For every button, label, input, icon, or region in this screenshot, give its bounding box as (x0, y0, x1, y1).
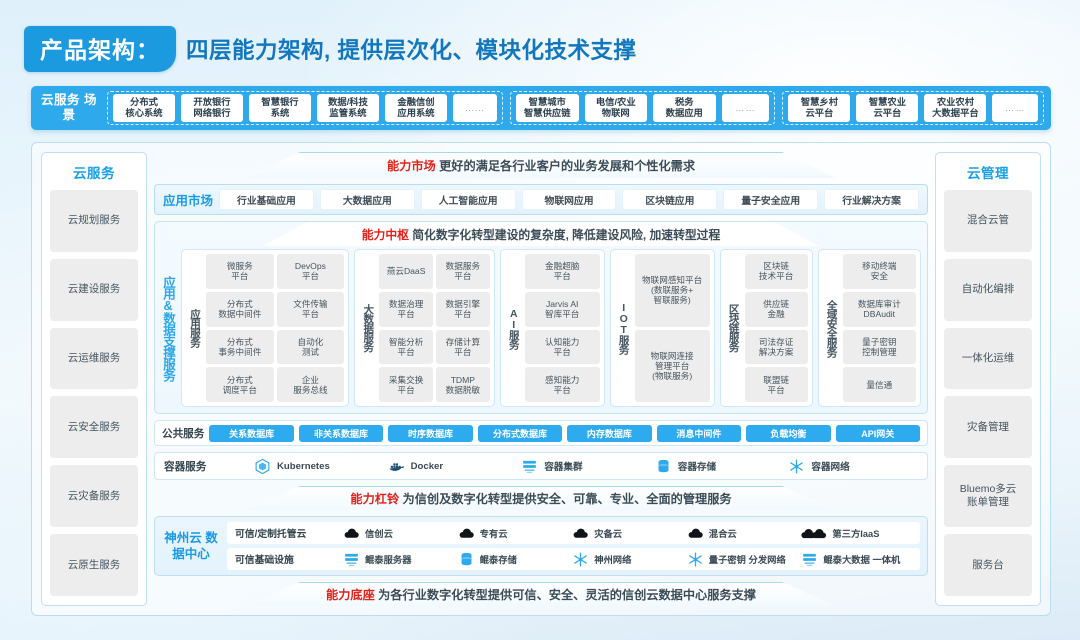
cloud-service-item[interactable]: 云灾备服务 (50, 465, 138, 527)
application-market-label: 应用市场 (163, 190, 213, 209)
left-sidebar-title: 云服务 (73, 162, 115, 182)
data-center-item[interactable]: 神州网络 (572, 551, 683, 568)
data-center-item-label: 鲲泰大数据 一体机 (823, 552, 900, 566)
capability-hub-body: 应用&数据支撑服务 应用服务微服务 平台DevOps 平台分布式 数据中间件文件… (155, 246, 927, 413)
ribbon-barbell-desc: 为信创及数字化转型提供安全、可靠、专业、全面的管理服务 (403, 492, 732, 506)
server-stack-icon (801, 551, 818, 568)
application-market-chip[interactable]: 大数据应用 (320, 189, 415, 210)
data-center-item-label: 第三方IaaS (832, 526, 879, 540)
data-center-item[interactable]: 灾备云 (572, 525, 683, 542)
data-center-label: 神州云 数据中心 (162, 530, 220, 562)
scenario-chip[interactable]: 金融信创 应用系统 (385, 94, 447, 122)
right-sidebar-cloud-management: 云管理 混合云管自动化编排一体化运维灾备管理Bluemo多云 账单管理服务台 (935, 152, 1041, 606)
ribbon-market-desc: 更好的满足各行业客户的业务发展和个性化需求 (439, 159, 695, 173)
domain-card: 区块链服务区块链 技术平台供应链 金融司法存证 解决方案联盟链 平台 (720, 249, 813, 407)
capability-hub-block: 能力中枢 简化数字化转型建设的复杂度, 降低建设风险, 加速转型过程 应用&数据… (154, 221, 928, 414)
application-market-chip[interactable]: 量子安全应用 (723, 189, 818, 210)
capability-cell[interactable]: 移动终端 安全 (843, 254, 916, 289)
domain-card-title: IOT服务 (615, 254, 632, 402)
right-sidebar-title: 云管理 (967, 162, 1009, 182)
capability-cell[interactable]: 数据库审计 DBAudit (843, 292, 916, 327)
capability-cell[interactable]: 自动化 测试 (277, 330, 345, 365)
cloud-icon (572, 525, 589, 542)
capability-cell[interactable]: 量信通 (843, 367, 916, 402)
public-service-chip[interactable]: 非关系数据库 (299, 425, 383, 442)
container-service-label: 容器集群 (544, 459, 582, 473)
network-icon (572, 551, 589, 568)
ribbon-capability-market: 能力市场 更好的满足各行业客户的业务发展和个性化需求 (154, 152, 928, 178)
title-badge: 产品架构： (24, 26, 176, 72)
capability-cell[interactable]: 感知能力 平台 (525, 367, 600, 402)
scenario-chip[interactable]: 开放银行 网络银行 (181, 94, 243, 122)
data-center-item[interactable]: 混合云 (687, 525, 798, 542)
domain-card-grid: 物联网感知平台 (数联服务+ 智联服务)物联网连接 管理平台 (物联服务) (635, 254, 710, 402)
public-service-chip[interactable]: 内存数据库 (567, 425, 651, 442)
ribbon-hub-key: 能力中枢 (362, 228, 409, 242)
architecture-frame: 云服务 云规划服务云建设服务云运维服务云安全服务云灾备服务云原生服务 能力市场 … (31, 142, 1051, 616)
cloud-management-item[interactable]: 灾备管理 (944, 396, 1032, 458)
scenario-chip[interactable]: 智慧乡村 云平台 (788, 94, 850, 122)
container-service-label: 容器存储 (678, 459, 716, 473)
page-title: 产品架构： 四层能力架构, 提供层次化、模块化技术支撑 (24, 26, 637, 72)
cloud-icon (343, 525, 360, 542)
application-market-chip[interactable]: 区块链应用 (622, 189, 717, 210)
capability-cell[interactable]: 分布式 数据中间件 (206, 292, 274, 327)
public-service-chip[interactable]: 消息中间件 (657, 425, 741, 442)
capability-cell[interactable]: 企业 服务总线 (277, 367, 345, 402)
data-center-row: 可信/定制托管云信创云专有云灾备云混合云第三方IaaS (227, 522, 920, 544)
container-service-label: Docker (411, 461, 444, 472)
container-service-item[interactable]: Kubernetes (254, 458, 384, 475)
domain-card-grid: 燕云DaaS数据服务 平台数据治理 平台数据引擎 平台智能分析 平台存储计算 平… (379, 254, 490, 402)
data-center-item[interactable]: 鲲泰大数据 一体机 (801, 551, 912, 568)
capability-cell[interactable]: 量子密钥 控制管理 (843, 330, 916, 365)
data-center-item-label: 信创云 (365, 526, 393, 540)
database-icon (655, 458, 672, 475)
cloud-management-item[interactable]: Bluemo多云 账单管理 (944, 465, 1032, 527)
domain-card-title: 区块链服务 (725, 254, 742, 402)
domain-card-grid: 微服务 平台DevOps 平台分布式 数据中间件文件传输 平台分布式 事务中间件… (206, 254, 344, 402)
capability-cell[interactable]: 金融超脑 平台 (525, 254, 600, 289)
ribbon-capability-barbell: 能力杠铃 为信创及数字化转型提供安全、可靠、专业、全面的管理服务 (154, 486, 928, 510)
scenario-chip[interactable]: …… (453, 94, 497, 122)
domain-card: 大数据服务燕云DaaS数据服务 平台数据治理 平台数据引擎 平台智能分析 平台存… (354, 249, 495, 407)
ribbon-capability-base: 能力底座 为各行业数字化转型提供可信、安全、灵活的信创云数据中心服务支撑 (154, 582, 928, 606)
container-service-label: Kubernetes (277, 461, 330, 472)
network-icon (687, 551, 704, 568)
cloud-management-item[interactable]: 自动化编排 (944, 259, 1032, 321)
capability-cell[interactable]: DevOps 平台 (277, 254, 345, 289)
database-icon (458, 551, 475, 568)
cloud-management-item[interactable]: 一体化运维 (944, 328, 1032, 390)
cloud-service-item[interactable]: 云运维服务 (50, 328, 138, 390)
container-services-row: 容器服务 KubernetesDocker容器集群容器存储容器网络 (154, 452, 928, 480)
application-market-strip: 应用市场 行业基础应用大数据应用人工智能应用物联网应用区块链应用量子安全应用行业… (154, 184, 928, 215)
capability-cell[interactable]: TDMP 数据脱敏 (436, 367, 490, 402)
title-subtitle: 四层能力架构, 提供层次化、模块化技术支撑 (186, 33, 637, 65)
domain-card-grid: 移动终端 安全数据库审计 DBAudit量子密钥 控制管理量信通 (843, 254, 916, 402)
scenario-chip[interactable]: 智慧银行 系统 (249, 94, 311, 122)
capability-cell[interactable]: 联盟链 平台 (745, 367, 808, 402)
scenario-chip[interactable]: 数据/科技 监管系统 (317, 94, 379, 122)
kubernetes-icon (254, 458, 271, 475)
domain-card: 全域安全服务移动终端 安全数据库审计 DBAudit量子密钥 控制管理量信通 (818, 249, 921, 407)
architecture-diagram: 产品架构： 四层能力架构, 提供层次化、模块化技术支撑 云服务 场景 分布式 核… (0, 0, 1080, 640)
scenario-chip[interactable]: 智慧农业 云平台 (856, 94, 918, 122)
scenario-group: 智慧乡村 云平台智慧农业 云平台农业农村 大数据平台…… (782, 91, 1044, 125)
capability-cell[interactable]: 数据治理 平台 (379, 292, 433, 327)
domain-card-title: 全域安全服务 (823, 254, 840, 402)
capability-cell[interactable]: 供应链 金融 (745, 292, 808, 327)
server-stack-icon (343, 551, 360, 568)
capability-cell[interactable]: 数据引擎 平台 (436, 292, 490, 327)
data-center-item[interactable]: 量子密钥 分发网络 (687, 551, 798, 568)
public-service-chip[interactable]: 分布式数据库 (478, 425, 562, 442)
application-market-chip[interactable]: 人工智能应用 (421, 189, 516, 210)
capability-cell[interactable]: 存储计算 平台 (436, 330, 490, 365)
container-service-label: 容器网络 (811, 459, 849, 473)
ribbon-capability-hub: 能力中枢 简化数字化转型建设的复杂度, 降低建设风险, 加速转型过程 (155, 222, 927, 246)
capability-cell[interactable]: 分布式 事务中间件 (206, 330, 274, 365)
data-center-item[interactable]: 鲲泰存储 (458, 551, 569, 568)
ribbon-hub-desc: 简化数字化转型建设的复杂度, 降低建设风险, 加速转型过程 (412, 228, 720, 242)
capability-cell[interactable]: 物联网连接 管理平台 (物联服务) (635, 330, 710, 403)
container-services-label: 容器服务 (164, 459, 250, 474)
scenario-bar-label: 云服务 场景 (38, 93, 100, 123)
domain-card: 应用服务微服务 平台DevOps 平台分布式 数据中间件文件传输 平台分布式 事… (181, 249, 349, 407)
ribbon-base-key: 能力底座 (326, 588, 375, 602)
capability-cell[interactable]: 分布式 调度平台 (206, 367, 274, 402)
public-service-chip[interactable]: 时序数据库 (388, 425, 472, 442)
data-center-item[interactable]: 第三方IaaS (801, 525, 912, 542)
data-center-item-label: 混合云 (709, 526, 737, 540)
container-service-item[interactable]: 容器存储 (655, 458, 785, 475)
container-service-item[interactable]: 容器网络 (788, 458, 918, 475)
application-market-chip[interactable]: 行业解决方案 (824, 189, 919, 210)
double-cloud-icon (801, 525, 827, 542)
domain-card-title: 应用服务 (186, 254, 203, 402)
center-column: 能力市场 更好的满足各行业客户的业务发展和个性化需求 应用市场 行业基础应用大数… (154, 152, 928, 606)
data-center-item-label: 灾备云 (594, 526, 622, 540)
public-service-chip[interactable]: 负载均衡 (746, 425, 830, 442)
scenario-chip[interactable]: …… (992, 94, 1038, 122)
data-center-row-label: 可信基础设施 (235, 552, 339, 566)
ribbon-base-desc: 为各行业数字化转型提供可信、安全、灵活的信创云数据中心服务支撑 (378, 588, 756, 602)
capability-cell[interactable]: 文件传输 平台 (277, 292, 345, 327)
public-service-chip[interactable]: 关系数据库 (209, 425, 293, 442)
scenario-chip[interactable]: 农业农村 大数据平台 (924, 94, 986, 122)
domain-card-title: 大数据服务 (359, 254, 376, 402)
data-center-item-label: 量子密钥 分发网络 (709, 552, 786, 566)
capability-cell[interactable]: 数据服务 平台 (436, 254, 490, 289)
ribbon-market-key: 能力市场 (387, 159, 436, 173)
public-services-row: 公共服务 关系数据库非关系数据库时序数据库分布式数据库内存数据库消息中间件负载均… (154, 420, 928, 446)
domain-card: IOT服务物联网感知平台 (数联服务+ 智联服务)物联网连接 管理平台 (物联服… (610, 249, 715, 407)
public-services-label: 公共服务 (162, 426, 204, 441)
cloud-service-item[interactable]: 云建设服务 (50, 259, 138, 321)
capability-cell[interactable]: 燕云DaaS (379, 254, 433, 289)
scenario-chip[interactable]: 智慧城市 智慧供应链 (516, 94, 579, 122)
scenario-chip[interactable]: 分布式 核心系统 (113, 94, 175, 122)
domain-card-row: 应用服务微服务 平台DevOps 平台分布式 数据中间件文件传输 平台分布式 事… (181, 249, 921, 407)
cloud-icon (687, 525, 704, 542)
data-center-item[interactable]: 信创云 (343, 525, 454, 542)
scenario-chip[interactable]: …… (722, 94, 770, 122)
network-icon (788, 458, 805, 475)
capability-cell[interactable]: 智能分析 平台 (379, 330, 433, 365)
ribbon-barbell-key: 能力杠铃 (350, 492, 399, 506)
capability-cell[interactable]: 认知能力 平台 (525, 330, 600, 365)
domain-card-title: AI服务 (505, 254, 522, 402)
data-center-item[interactable]: 鲲泰服务器 (343, 551, 454, 568)
capability-cell[interactable]: 采集交换 平台 (379, 367, 433, 402)
data-center-item-label: 鲲泰服务器 (365, 552, 412, 566)
capability-cell[interactable]: Jarvis AI 智库平台 (525, 292, 600, 327)
data-center-item-label: 专有云 (480, 526, 508, 540)
cloud-scenario-bar: 云服务 场景 分布式 核心系统开放银行 网络银行智慧银行 系统数据/科技 监管系… (31, 86, 1051, 130)
capability-cell[interactable]: 司法存证 解决方案 (745, 330, 808, 365)
data-center-row: 可信基础设施鲲泰服务器鲲泰存储神州网络量子密钥 分发网络鲲泰大数据 一体机 (227, 548, 920, 570)
public-service-chip[interactable]: API网关 (836, 425, 920, 442)
scenario-group: 智慧城市 智慧供应链电信/农业 物联网税务 数据应用…… (510, 91, 775, 125)
left-sidebar-cloud-services: 云服务 云规划服务云建设服务云运维服务云安全服务云灾备服务云原生服务 (41, 152, 147, 606)
data-center-item[interactable]: 专有云 (458, 525, 569, 542)
cloud-service-item[interactable]: 云规划服务 (50, 190, 138, 252)
capability-cell[interactable]: 微服务 平台 (206, 254, 274, 289)
data-center-block: 神州云 数据中心 可信/定制托管云信创云专有云灾备云混合云第三方IaaS可信基础… (154, 516, 928, 576)
application-market-chip[interactable]: 物联网应用 (522, 189, 617, 210)
capability-cell[interactable]: 物联网感知平台 (数联服务+ 智联服务) (635, 254, 710, 327)
data-center-item-label: 鲲泰存储 (480, 552, 517, 566)
domain-card: AI服务金融超脑 平台Jarvis AI 智库平台认知能力 平台感知能力 平台 (500, 249, 605, 407)
scenario-chip[interactable]: 税务 数据应用 (653, 94, 716, 122)
domain-card-grid: 区块链 技术平台供应链 金融司法存证 解决方案联盟链 平台 (745, 254, 808, 402)
scenario-group: 分布式 核心系统开放银行 网络银行智慧银行 系统数据/科技 监管系统金融信创 应… (107, 91, 503, 125)
hub-vertical-label: 应用&数据支撑服务 (159, 249, 176, 407)
cloud-management-item[interactable]: 服务台 (944, 534, 1032, 596)
server-stack-icon (521, 458, 538, 475)
domain-card-grid: 金融超脑 平台Jarvis AI 智库平台认知能力 平台感知能力 平台 (525, 254, 600, 402)
data-center-row-label: 可信/定制托管云 (235, 526, 339, 540)
application-market-chip[interactable]: 行业基础应用 (219, 189, 314, 210)
capability-cell[interactable]: 区块链 技术平台 (745, 254, 808, 289)
cloud-service-item[interactable]: 云原生服务 (50, 534, 138, 596)
container-service-item[interactable]: 容器集群 (521, 458, 651, 475)
data-center-item-label: 神州网络 (594, 552, 631, 566)
cloud-management-item[interactable]: 混合云管 (944, 190, 1032, 252)
cloud-service-item[interactable]: 云安全服务 (50, 396, 138, 458)
docker-icon (388, 458, 405, 475)
cloud-icon (458, 525, 475, 542)
scenario-chip[interactable]: 电信/农业 物联网 (585, 94, 648, 122)
container-service-item[interactable]: Docker (388, 458, 518, 475)
